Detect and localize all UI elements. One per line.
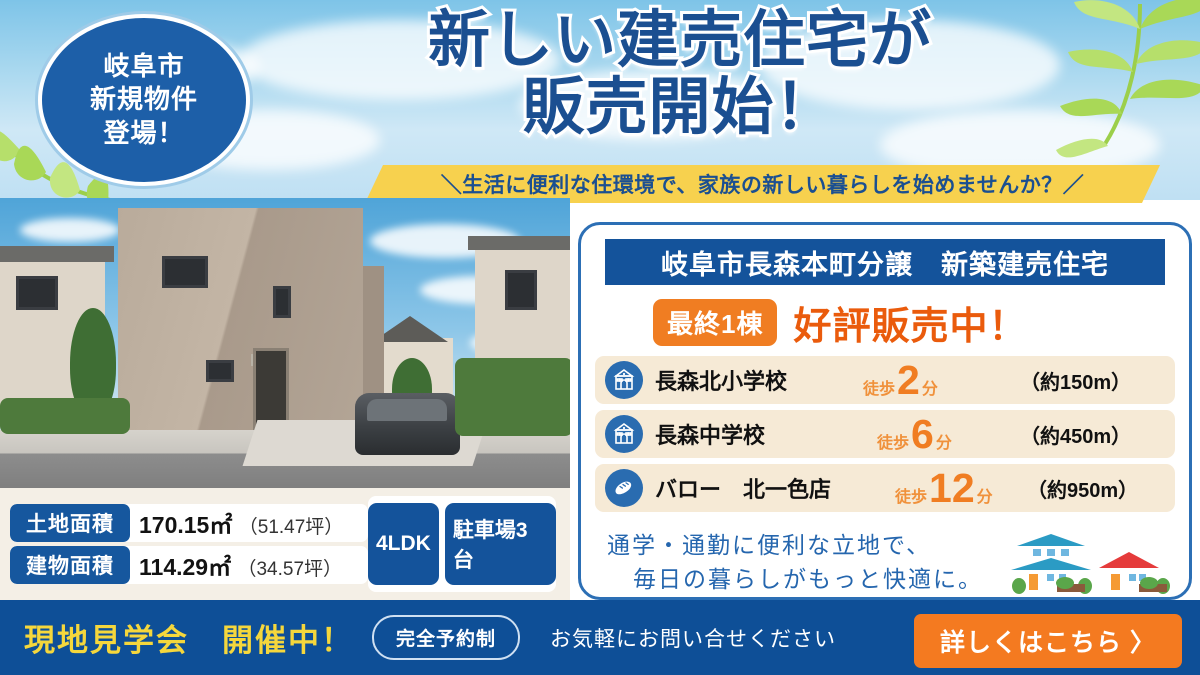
school-icon (605, 361, 643, 399)
school-icon (605, 415, 643, 453)
poi-name: 長森中学校 (655, 418, 765, 450)
card-footer: 通学・通勤に便利な立地で、 毎日の暮らしがもっと快適に。 (581, 518, 1189, 596)
window (273, 286, 291, 318)
land-area-tsubo: （51.47坪） (239, 517, 344, 538)
hedge (455, 358, 570, 436)
spec-label-land: 土地面積 (10, 504, 130, 542)
walk-label: 徒歩 (877, 429, 909, 453)
advertisement-banner: 岐阜市 新規物件 登場！ 新しい建売住宅が 販売開始！ ＼生活に便利な住環境で、… (0, 0, 1200, 675)
card-footer-line-2: 毎日の暮らしがもっと快適に。 (607, 563, 983, 596)
property-photo (0, 198, 570, 488)
poi-distance: （約150m） (1020, 366, 1131, 395)
land-area-value: 170.15㎡ (139, 512, 232, 538)
spec-label-building: 建物面積 (10, 546, 130, 584)
final-unit-badge: 最終1棟 (653, 299, 777, 346)
spec-value-building: 114.29㎡ （34.57坪） (130, 548, 342, 582)
footer-note: お気軽にお問い合せください (550, 623, 836, 653)
window (206, 360, 234, 382)
poi-row-supermarket: バロー 北一色店 徒歩 12 分 （約950m） (595, 464, 1175, 512)
main-headline: 新しい建売住宅が 販売開始！ (330, 8, 1030, 142)
badge-line-3: 登場！ (103, 117, 184, 150)
neighbor-roof (468, 236, 570, 250)
new-property-badge: 岐阜市 新規物件 登場！ (38, 14, 250, 186)
poi-walk-time: 徒歩 2 分 (863, 361, 938, 400)
card-title: 岐阜市長森本町分譲 新築建売住宅 (605, 239, 1165, 285)
walk-unit: 分 (922, 375, 938, 399)
walk-unit: 分 (977, 483, 993, 507)
building-area-value: 114.29㎡ (139, 554, 231, 580)
cloud-decor (20, 218, 120, 242)
card-footer-line-1: 通学・通勤に便利な立地で、 (607, 533, 931, 558)
bread-icon (605, 469, 643, 507)
spec-row-building: 建物面積 114.29㎡ （34.57坪） (10, 546, 368, 584)
badge-line-2: 新規物件 (90, 83, 198, 116)
card-footer-text: 通学・通勤に便利な立地で、 毎日の暮らしがもっと快適に。 (607, 529, 983, 596)
poi-name: 長森北小学校 (655, 364, 787, 396)
building-area-tsubo: （34.57坪） (237, 559, 342, 580)
walk-label: 徒歩 (895, 483, 927, 507)
poi-row-junior-high-school: 長森中学校 徒歩 6 分 （約450m） (595, 410, 1175, 458)
window (16, 276, 58, 310)
footer-title: 現地見学会 開催中！ (24, 615, 354, 660)
walk-minutes: 6 (911, 415, 934, 454)
tag-layout: 4LDK (368, 503, 439, 585)
poi-name: バロー 北一色店 (655, 472, 831, 504)
spec-list: 土地面積 170.15㎡ （51.47坪） 建物面積 114.29㎡ （34.5… (0, 500, 368, 588)
tag-parking: 駐車場3台 (445, 503, 556, 585)
feature-tags: 4LDK 駐車場3台 (368, 496, 556, 592)
window (162, 256, 208, 288)
spec-value-land: 170.15㎡ （51.47坪） (130, 506, 343, 540)
property-info-card: 岐阜市長森本町分譲 新築建売住宅 最終1棟 好評販売中！ 長森北小学校 (578, 222, 1192, 600)
headline-line-1: 新しい建売住宅が (428, 6, 932, 75)
parked-car (355, 393, 460, 455)
specs-section: 土地面積 170.15㎡ （51.47坪） 建物面積 114.29㎡ （34.5… (0, 488, 570, 600)
card-status-row: 最終1棟 好評販売中！ (653, 295, 1189, 350)
poi-list: 長森北小学校 徒歩 2 分 （約150m） (595, 356, 1175, 512)
walk-minutes: 12 (929, 469, 975, 508)
poi-walk-time: 徒歩 6 分 (877, 415, 952, 454)
walk-unit: 分 (936, 429, 952, 453)
sale-status-text: 好評販売中！ (793, 295, 1027, 350)
houses-illustration (1005, 524, 1173, 596)
poi-row-elementary-school: 長森北小学校 徒歩 2 分 （約150m） (595, 356, 1175, 404)
house-main-volume (118, 208, 363, 438)
poi-walk-time: 徒歩 12 分 (895, 469, 993, 508)
headline-line-2: 販売開始！ (330, 75, 1030, 142)
badge-line-1: 岐阜市 (103, 50, 184, 83)
neighbor-roof (0, 246, 114, 262)
reservation-pill[interactable]: 完全予約制 (372, 615, 520, 660)
spec-row-land: 土地面積 170.15㎡ （51.47坪） (10, 504, 368, 542)
hedge (0, 398, 130, 434)
poi-distance: （約450m） (1020, 420, 1131, 449)
walk-minutes: 2 (897, 361, 920, 400)
walk-label: 徒歩 (863, 375, 895, 399)
window (505, 270, 537, 310)
details-cta-button[interactable]: 詳しくはこちら 〉 (914, 614, 1182, 668)
poi-distance: （約950m） (1027, 474, 1138, 503)
footer-bar: 現地見学会 開催中！ 完全予約制 お気軽にお問い合せください 詳しくはこちら 〉 (0, 600, 1200, 675)
